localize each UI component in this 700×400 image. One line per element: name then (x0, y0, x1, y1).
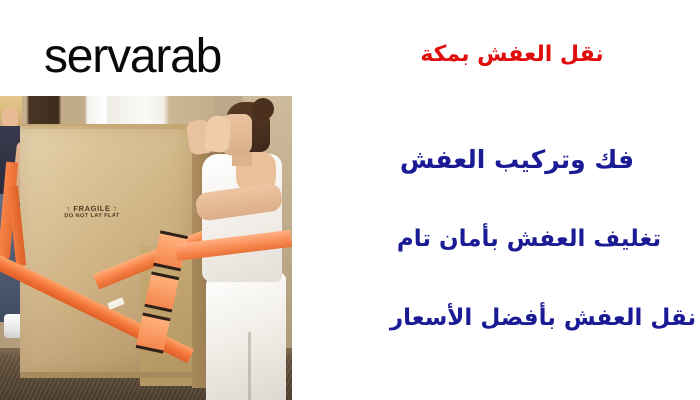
logo-area: servarab (0, 0, 330, 96)
cardboard-box-bottom-edge (20, 372, 192, 378)
right-mover-hand-right (204, 115, 232, 153)
right-mover-leg-seam (248, 332, 251, 400)
service-line-2: تغليف العفش بأمان تام (364, 228, 694, 251)
text-column: نقل العفش بمكة فك وتركيب العفش تغليف الع… (330, 0, 700, 400)
headline-text: نقل العفش بمكة (347, 44, 677, 66)
right-mover-pants (206, 272, 286, 400)
promo-banner: servarab ↑ FRAGILE ↑ DO NOT LAY FLAT (0, 0, 700, 400)
right-mover-hair-bun (252, 98, 274, 120)
box-warning-print: ↑ FRAGILE ↑ DO NOT LAY FLAT (44, 203, 140, 220)
brand-logo: servarab (44, 33, 221, 81)
service-line-1: فك وتركيب العفش (352, 147, 682, 172)
do-not-lay-flat-label: DO NOT LAY FLAT (44, 213, 140, 221)
service-line-3: نقل العفش بأفضل الأسعار (378, 307, 700, 330)
movers-photo: ↑ FRAGILE ↑ DO NOT LAY FLAT (0, 96, 292, 400)
left-mover-face (2, 108, 18, 128)
